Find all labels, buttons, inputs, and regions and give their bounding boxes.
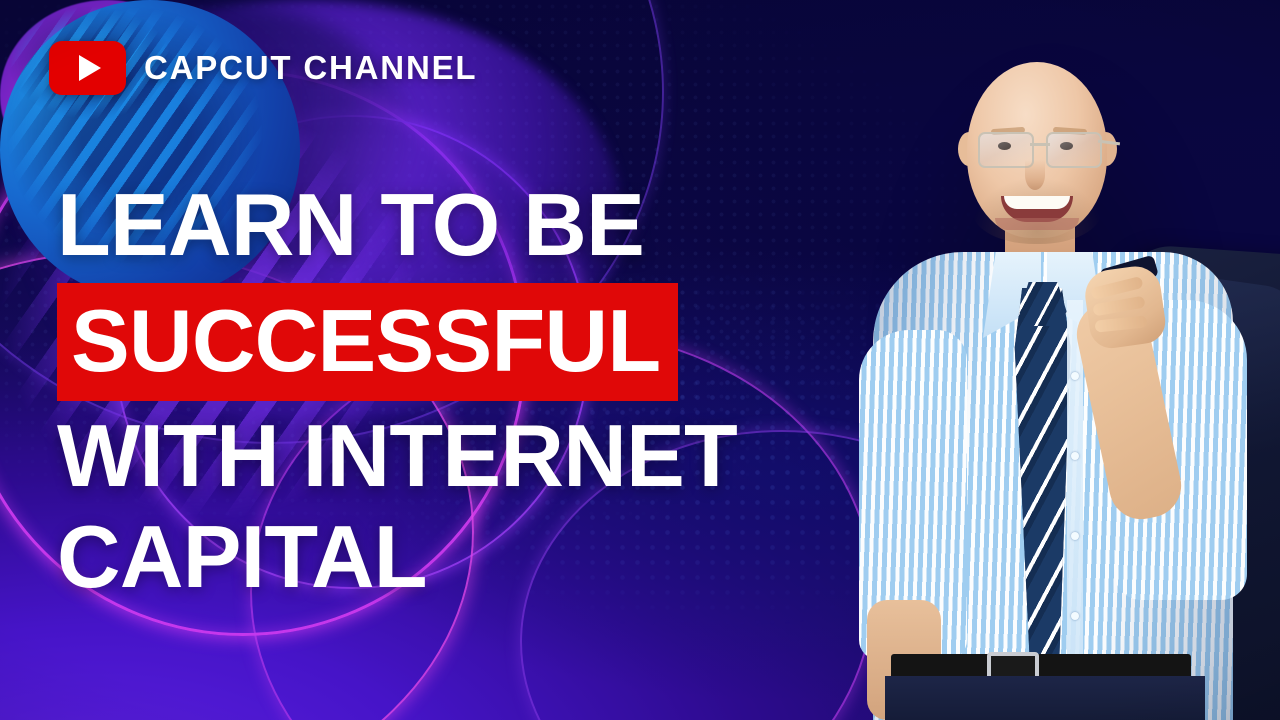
lens-right [1046,132,1102,168]
headline-line-1: LEARN TO BE [57,184,887,267]
headline-line-4: CAPITAL [57,516,887,599]
shirt-button [1071,612,1079,620]
headline-line-3: WITH INTERNET [57,415,887,498]
lower-lip [995,218,1079,230]
shirt-button [1071,452,1079,460]
glasses-bridge [1030,143,1050,146]
red-highlight-box: SUCCESSFUL [57,283,678,402]
channel-header: CAPCUT CHANNEL [49,41,477,95]
play-triangle-icon [79,55,101,81]
shirt-button [1071,532,1079,540]
youtube-play-icon[interactable] [49,41,126,95]
headline-block: LEARN TO BE SUCCESSFUL WITH INTERNET CAP… [57,184,887,599]
teeth [1004,196,1070,209]
headline-line-2: SUCCESSFUL [71,291,660,390]
thumbnail-canvas: CAPCUT CHANNEL LEARN TO BE SUCCESSFUL WI… [0,0,1280,720]
headline-highlight-row: SUCCESSFUL [57,283,887,402]
trousers [885,676,1205,720]
channel-name-label: CAPCUT CHANNEL [144,49,477,87]
nose [1025,160,1045,190]
shirt-button [1071,372,1079,380]
